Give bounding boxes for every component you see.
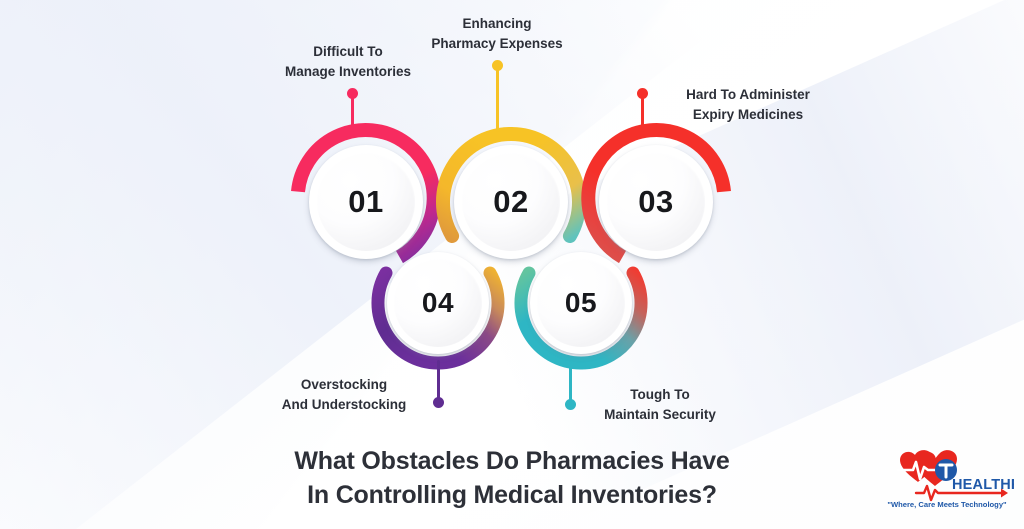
step-label-03-line2: Expiry Medicines bbox=[693, 107, 803, 122]
step-label-02-line2: Pharmacy Expenses bbox=[431, 36, 562, 51]
step-label-03: Hard To Administer Expiry Medicines bbox=[568, 85, 928, 125]
step-label-05-line1: Tough To bbox=[630, 387, 689, 402]
connector-stem-01 bbox=[351, 94, 354, 132]
infographic-canvas: 01 Difficult To Manage Inventories bbox=[0, 0, 1024, 529]
step-node-05[interactable]: 05 bbox=[514, 236, 648, 370]
step-label-04-line2: And Understocking bbox=[282, 397, 407, 412]
step-label-05-line2: Maintain Security bbox=[604, 407, 716, 422]
connector-02 bbox=[491, 60, 503, 132]
step-label-02: Enhancing Pharmacy Expenses bbox=[317, 14, 677, 54]
step-label-04: Overstocking And Understocking bbox=[164, 375, 524, 415]
step-label-04-line1: Overstocking bbox=[301, 377, 387, 392]
brand-tagline: "Where, Care Meets Technology" bbox=[887, 500, 1007, 509]
disc-inner-05: 05 bbox=[537, 259, 625, 347]
page-title-line2: In Controlling Medical Inventories? bbox=[0, 478, 1024, 512]
step-node-04[interactable]: 04 bbox=[371, 236, 505, 370]
page-title: What Obstacles Do Pharmacies Have In Con… bbox=[0, 444, 1024, 512]
connector-01 bbox=[346, 88, 358, 132]
brand-wordmark: HEALTHRAY bbox=[952, 477, 1014, 493]
connector-stem-02 bbox=[496, 66, 499, 132]
logo-graphic: HEALTHRAY "Where, Care Meets Technology" bbox=[880, 446, 1014, 512]
step-number-05: 05 bbox=[537, 259, 625, 347]
step-label-02-line1: Enhancing bbox=[462, 16, 531, 31]
step-label-05: Tough To Maintain Security bbox=[480, 385, 840, 425]
page-title-line1: What Obstacles Do Pharmacies Have bbox=[294, 447, 729, 475]
step-label-01-line2: Manage Inventories bbox=[285, 64, 411, 79]
step-label-03-line1: Hard To Administer bbox=[686, 87, 810, 102]
step-number-04: 04 bbox=[394, 259, 482, 347]
disc-inner-04: 04 bbox=[394, 259, 482, 347]
healthray-logo[interactable]: HEALTHRAY "Where, Care Meets Technology" bbox=[880, 446, 1014, 512]
